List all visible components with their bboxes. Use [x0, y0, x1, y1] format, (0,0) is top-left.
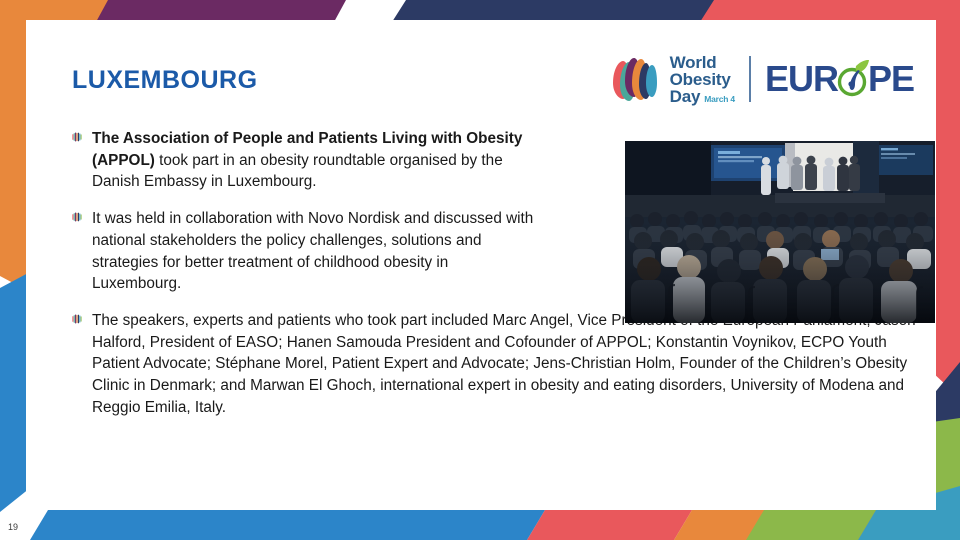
decoration-top-purple-band: [96, 0, 346, 22]
logo-line-obesity: Obesity: [670, 71, 735, 88]
world-obesity-day-ribbon-icon: [609, 53, 663, 105]
world-obesity-day-wordmark: World Obesity Day March 4: [670, 54, 735, 105]
slide: LUXEMBOURG World Obesity: [0, 0, 960, 540]
decoration-bottom-green-band: [746, 510, 876, 540]
content-card: LUXEMBOURG World Obesity: [26, 20, 936, 510]
bullet-text-2: It was held in collaboration with Novo N…: [92, 208, 540, 295]
bullet-ribbon-icon: [72, 310, 92, 419]
apple-leaf-icon: [836, 57, 870, 97]
bullet-ribbon-icon: [72, 128, 92, 193]
logo-day-text: Day: [670, 88, 701, 105]
logo-line-day: Day March 4: [670, 88, 735, 105]
logo-date-text: March 4: [704, 95, 735, 104]
decoration-right-red-band: [932, 0, 960, 398]
decoration-bottom-blue-band: [30, 510, 545, 540]
europe-wordmark: EUR PE: [765, 58, 914, 100]
europe-text-right: PE: [868, 58, 914, 100]
logo-line-world: World: [670, 54, 735, 71]
decoration-top-navy-band: [392, 0, 734, 22]
conference-audience-photo: [625, 141, 935, 323]
logo-divider: [749, 56, 751, 102]
page-number: 19: [8, 522, 18, 532]
europe-text-left: EUR: [765, 58, 838, 100]
bullet-ribbon-icon: [72, 208, 92, 295]
bullet-text-1: The Association of People and Patients L…: [92, 128, 540, 193]
decoration-top-red-band: [700, 0, 960, 22]
logo-lockup: World Obesity Day March 4 EUR: [609, 48, 914, 110]
page-title: LUXEMBOURG: [72, 66, 258, 95]
bullet-text-3: The speakers, experts and patients who t…: [92, 310, 920, 419]
decoration-bottom-red-band: [527, 510, 692, 540]
bullet-item-3: The speakers, experts and patients who t…: [72, 310, 934, 419]
